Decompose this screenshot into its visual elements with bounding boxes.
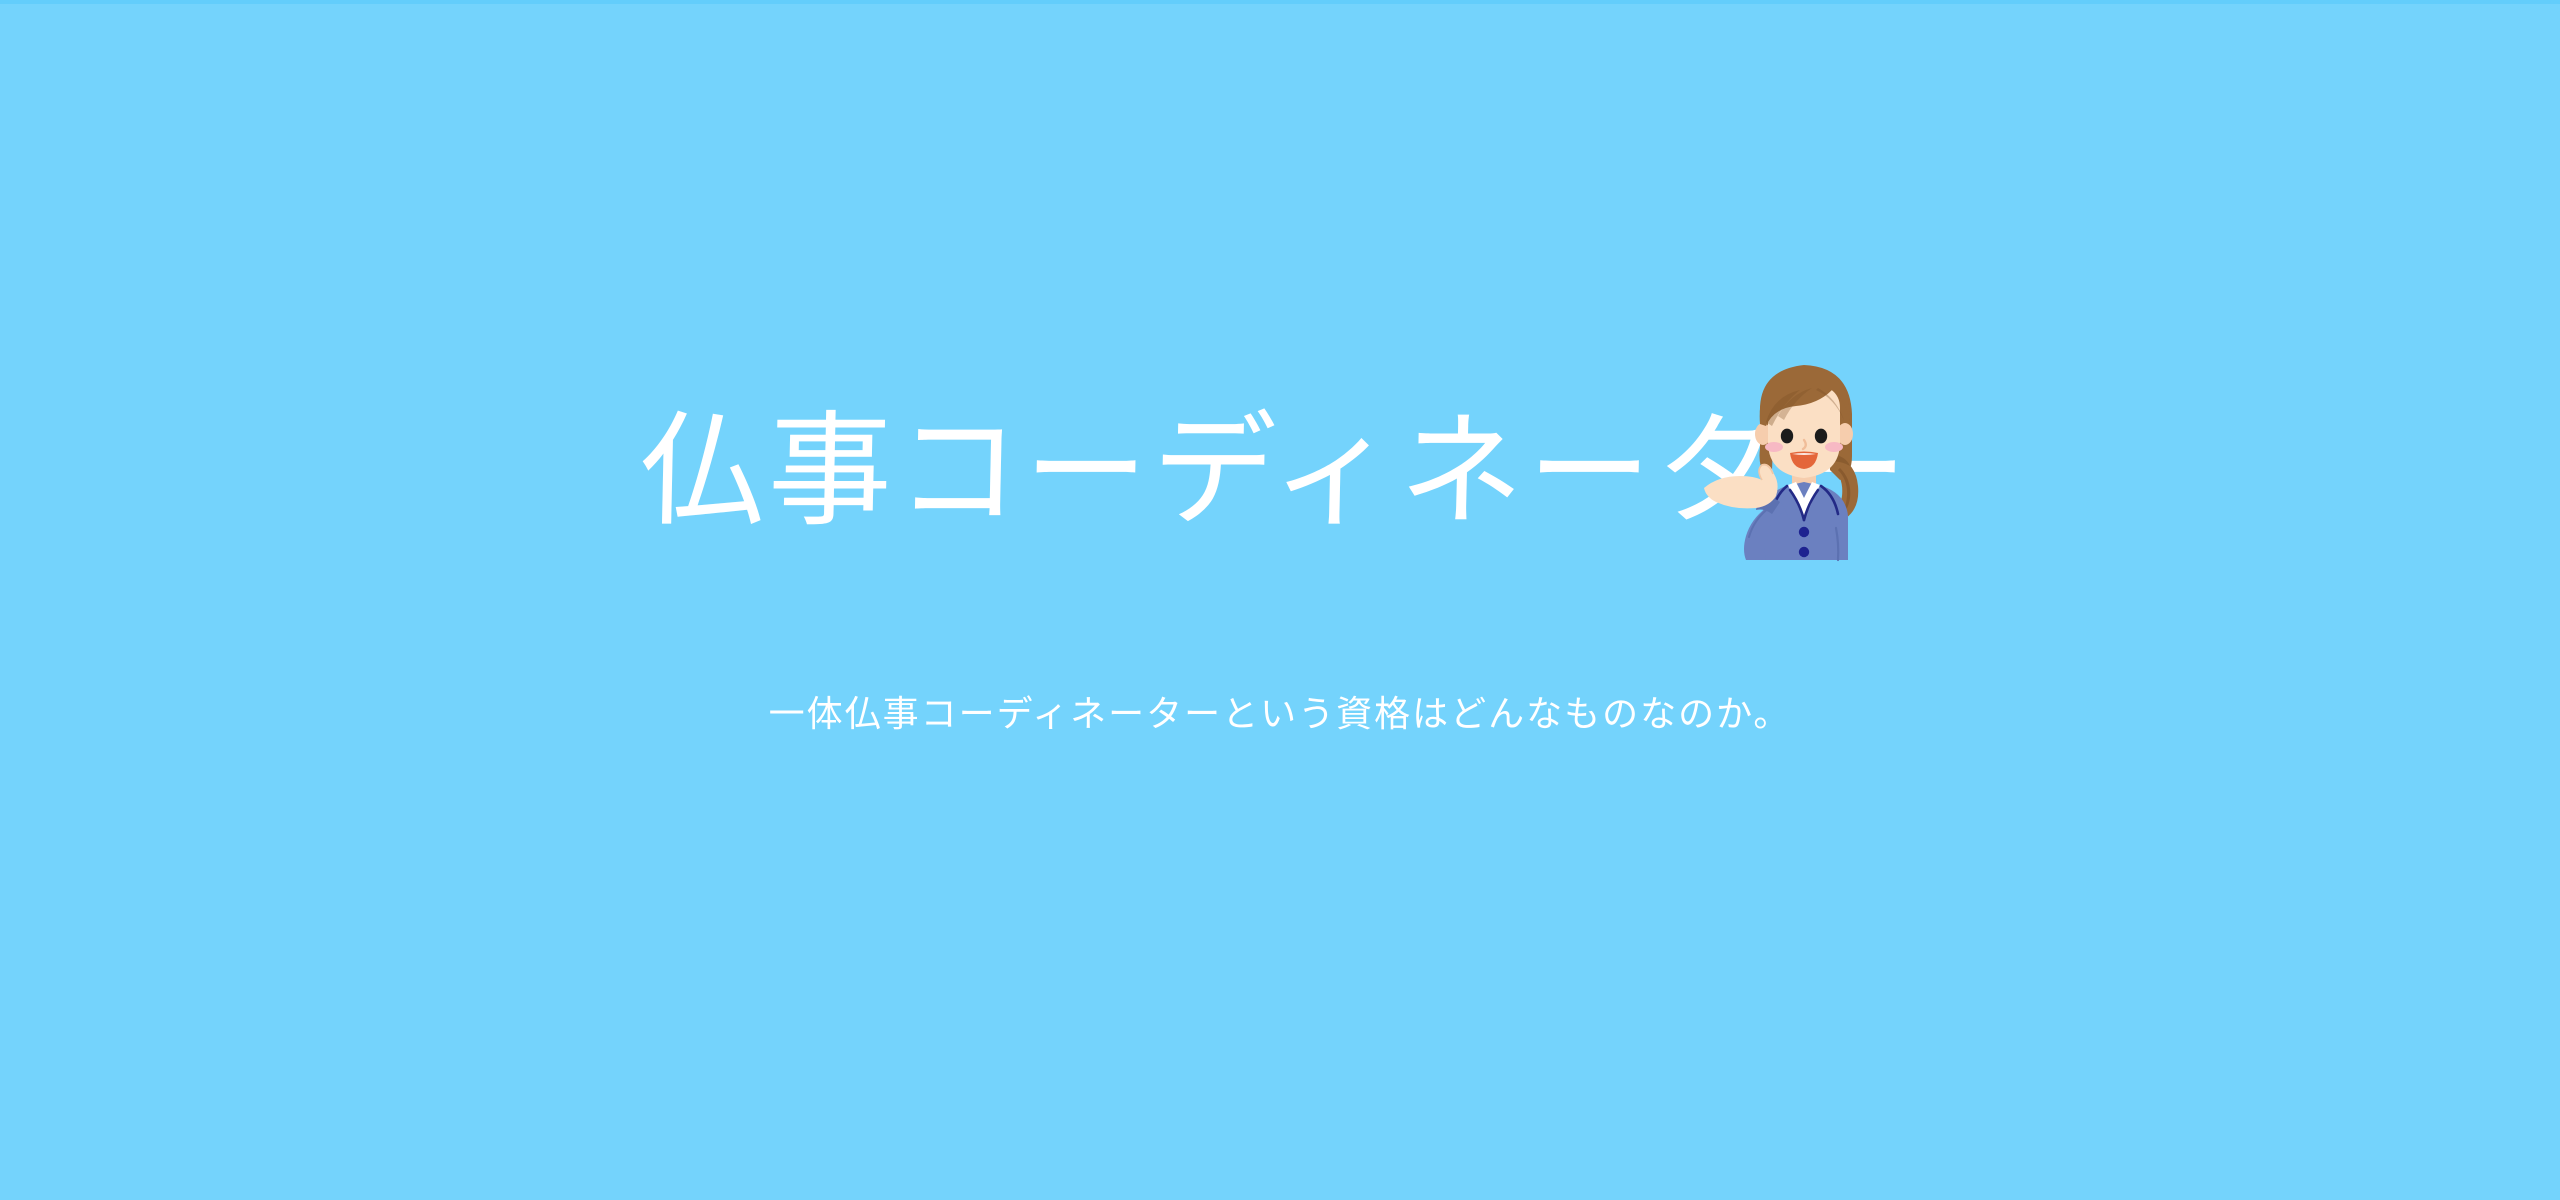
eye-right-icon (1815, 429, 1827, 444)
jacket-button-top (1799, 527, 1809, 537)
hero-block: 仏事コーディネーター 一体仏事コーディネーターという資格はどんなものなのか。 (0, 0, 2560, 1200)
blush-left-shape (1765, 442, 1783, 452)
slide-canvas: 仏事コーディネーター 一体仏事コーディネーターという資格はどんなものなのか。 (0, 0, 2560, 1200)
blush-right-shape (1825, 442, 1843, 452)
woman-presenter-icon (1700, 352, 1900, 567)
jacket-button-bottom (1799, 547, 1809, 557)
eye-left-icon (1781, 429, 1793, 444)
hand-open-palm-shape (1704, 464, 1778, 509)
hero-subtitle: 一体仏事コーディネーターという資格はどんなものなのか。 (769, 688, 1792, 742)
woman-presenter-svg (1700, 352, 1900, 567)
hero-subtitle-row: 一体仏事コーディネーターという資格はどんなものなのか。 (0, 688, 2560, 742)
